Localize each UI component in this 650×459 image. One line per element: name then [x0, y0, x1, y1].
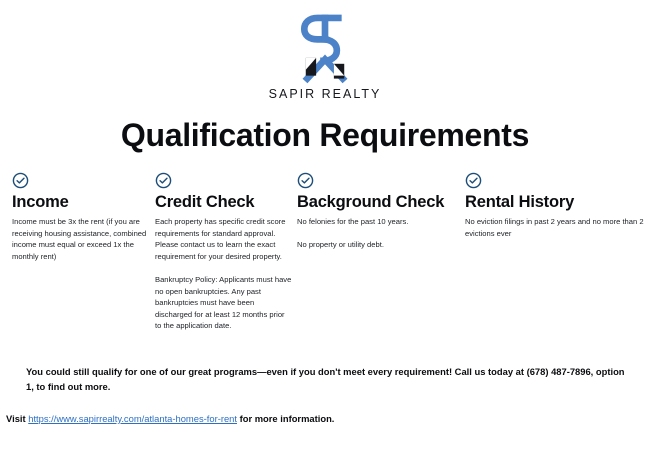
visit-suffix: for more information.	[237, 413, 334, 424]
brand-logo: SAPIR REALTY	[0, 12, 650, 101]
column-text: No property or utility debt.	[297, 239, 465, 251]
column-text: Each property has specific credit score …	[155, 216, 293, 262]
requirement-column-background-check: Background Check No felonies for the pas…	[297, 172, 465, 251]
column-text: No felonies for the past 10 years.	[297, 216, 465, 228]
requirement-column-rental-history: Rental History No eviction filings in pa…	[465, 172, 645, 239]
column-text: Income must be 3x the rent (if you are r…	[12, 216, 152, 262]
cta-text: You could still qualify for one of our g…	[26, 365, 626, 394]
visit-line: Visit https://www.sapirrealty.com/atlant…	[6, 412, 626, 426]
visit-prefix: Visit	[6, 413, 28, 424]
column-heading-credit-check: Credit Check	[155, 193, 293, 212]
brand-wordmark: SAPIR REALTY	[0, 87, 650, 101]
column-heading-rental-history: Rental History	[465, 193, 645, 212]
check-circle-icon	[12, 172, 29, 189]
column-heading-background-check: Background Check	[297, 193, 465, 212]
check-circle-icon	[465, 172, 482, 189]
requirements-columns: Income Income must be 3x the rent (if yo…	[0, 172, 650, 352]
column-text-bankruptcy-policy: Bankruptcy Policy: Applicants must have …	[155, 274, 293, 332]
requirement-column-credit-check: Credit Check Each property has specific …	[155, 172, 293, 332]
column-heading-income: Income	[12, 193, 152, 212]
page-title: Qualification Requirements	[0, 116, 650, 154]
website-link[interactable]: https://www.sapirrealty.com/atlanta-home…	[28, 413, 237, 424]
check-circle-icon	[155, 172, 172, 189]
requirement-column-income: Income Income must be 3x the rent (if yo…	[12, 172, 152, 262]
sapir-sr-monogram-icon	[288, 12, 362, 86]
column-text: No eviction filings in past 2 years and …	[465, 216, 645, 239]
check-circle-icon	[297, 172, 314, 189]
